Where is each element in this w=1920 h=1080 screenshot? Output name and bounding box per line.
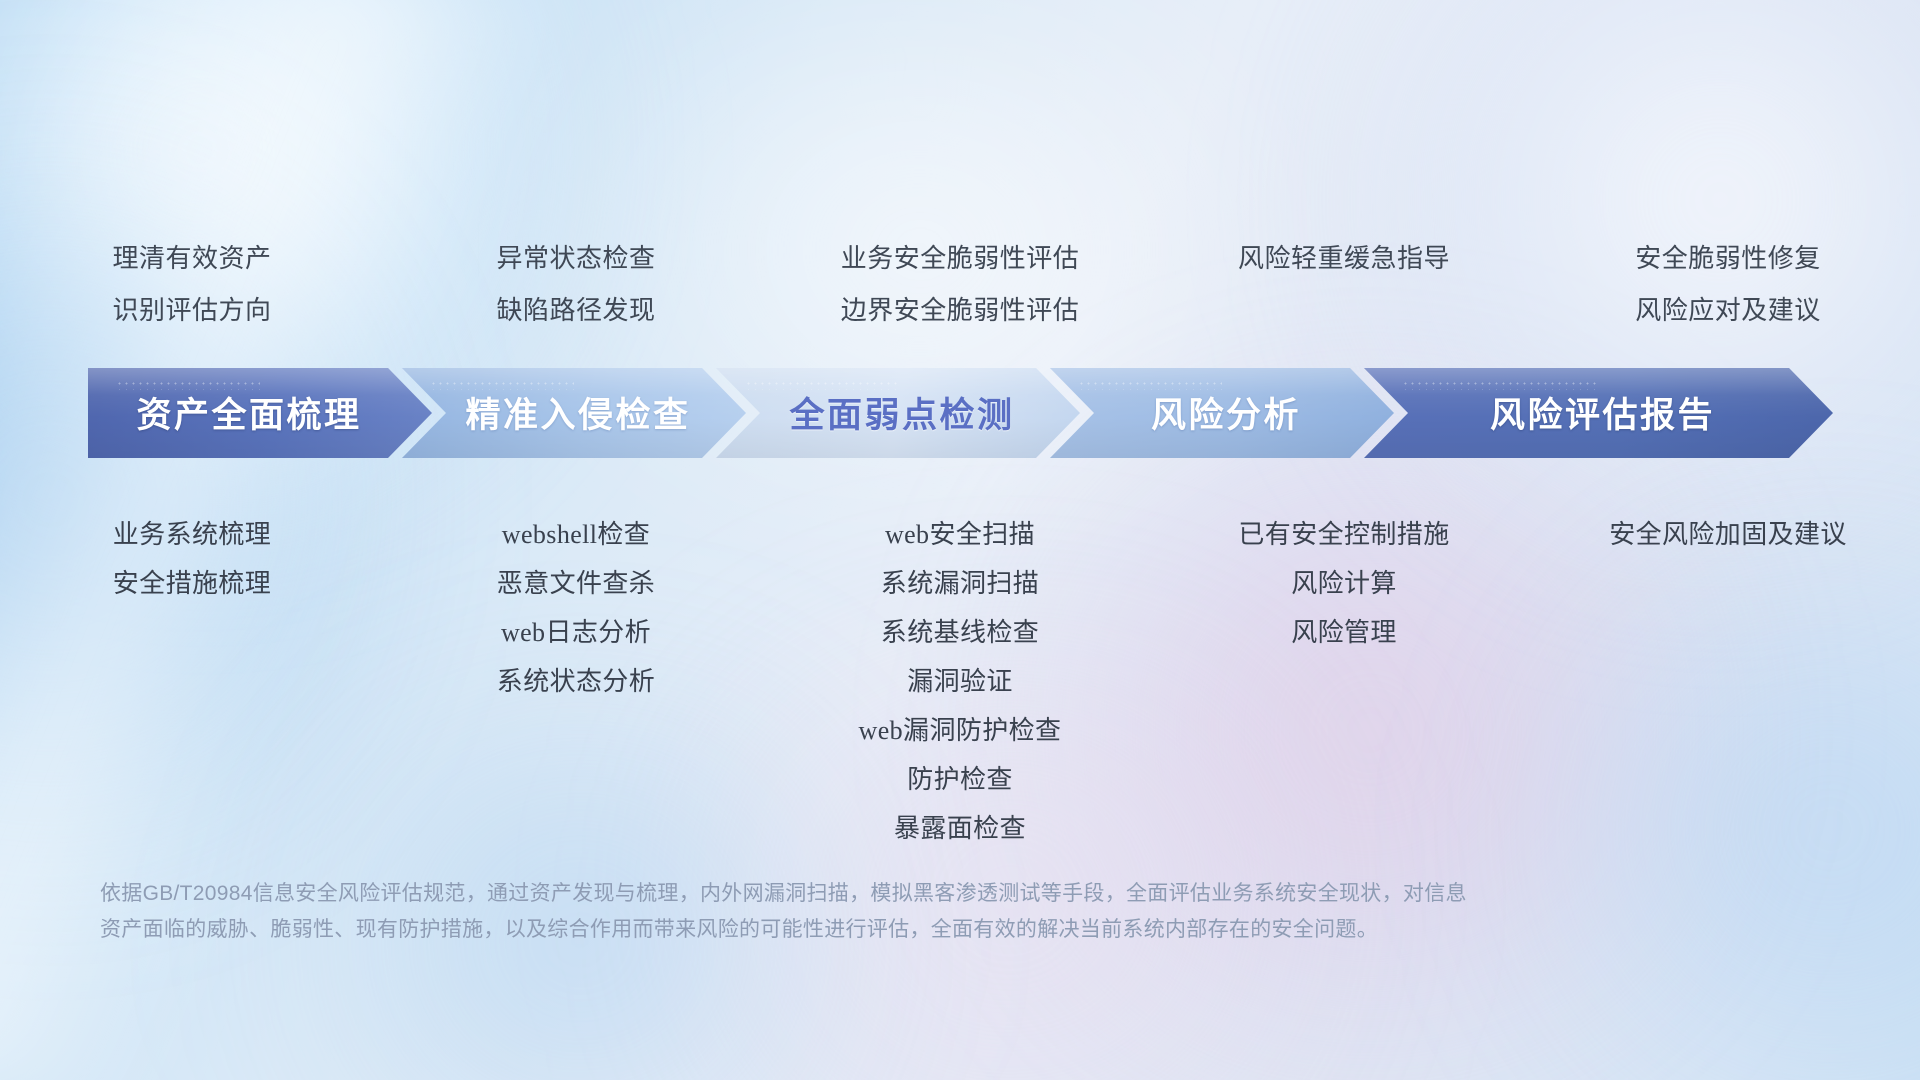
bottom-item: 系统基线检查 (881, 608, 1039, 657)
bottom-items-row: 业务系统梳理 安全措施梳理 webshell检查 恶意文件查杀 web日志分析 … (0, 510, 1920, 853)
top-item: 业务安全脆弱性评估 (841, 232, 1080, 284)
stage-chevron-weakness-detection[interactable]: 全面弱点检测 (716, 368, 1080, 458)
stage-chevron-band: 资产全面梳理 精准入侵检查 全面弱点检测 风险分析 风险评估报告 (88, 368, 1833, 458)
bottom-item: 恶意文件查杀 (497, 559, 655, 608)
stage-title: 风险评估报告 (1460, 387, 1737, 438)
bottom-items-intrusion-check: webshell检查 恶意文件查杀 web日志分析 系统状态分析 (384, 510, 768, 853)
stage-chevron-asset-inventory[interactable]: 资产全面梳理 (88, 368, 432, 458)
bottom-items-risk-analysis: 已有安全控制措施 风险计算 风险管理 (1152, 510, 1536, 853)
bottom-item: web安全扫描 (885, 510, 1035, 559)
top-items-row: 理清有效资产 识别评估方向 异常状态检查 缺陷路径发现 业务安全脆弱性评估 边界… (0, 232, 1920, 336)
top-item: 识别评估方向 (112, 284, 271, 336)
top-items-risk-analysis: 风险轻重缓急指导 (1152, 232, 1536, 336)
bottom-item: 风险计算 (1291, 559, 1397, 608)
stage-chevron-risk-report[interactable]: 风险评估报告 (1364, 368, 1833, 458)
bottom-item: 系统漏洞扫描 (881, 559, 1039, 608)
top-items-asset-inventory: 理清有效资产 识别评估方向 (0, 232, 384, 336)
description-note: 依据GB/T20984信息安全风险评估规范，通过资产发现与梳理，内外网漏洞扫描，… (100, 876, 1660, 948)
bottom-item: 业务系统梳理 (113, 510, 271, 559)
top-items-risk-report: 安全脆弱性修复 风险应对及建议 (1536, 232, 1920, 336)
top-items-intrusion-check: 异常状态检查 缺陷路径发现 (384, 232, 768, 336)
top-item: 理清有效资产 (112, 232, 271, 284)
top-item: 风险应对及建议 (1635, 284, 1821, 336)
bottom-item: 暴露面检查 (894, 804, 1026, 853)
bottom-item: 风险管理 (1291, 608, 1397, 657)
bottom-item: 防护检查 (907, 755, 1013, 804)
stage-title: 风险分析 (1121, 387, 1323, 438)
stage-title: 精准入侵检查 (435, 387, 712, 438)
note-line-2: 资产面临的威胁、脆弱性、现有防护措施，以及综合作用而带来风险的可能性进行评估，全… (100, 912, 1660, 948)
stage-title: 全面弱点检测 (759, 387, 1036, 438)
bottom-items-weakness-detection: web安全扫描 系统漏洞扫描 系统基线检查 漏洞验证 web漏洞防护检查 防护检… (768, 510, 1152, 853)
bottom-item: 系统状态分析 (497, 657, 655, 706)
bottom-item: web日志分析 (501, 608, 651, 657)
process-diagram: 理清有效资产 识别评估方向 异常状态检查 缺陷路径发现 业务安全脆弱性评估 边界… (0, 0, 1920, 1080)
bottom-items-risk-report: 安全风险加固及建议 (1536, 510, 1920, 853)
bottom-item: 安全风险加固及建议 (1609, 510, 1847, 559)
top-item: 边界安全脆弱性评估 (841, 284, 1080, 336)
stage-title: 资产全面梳理 (136, 387, 383, 438)
bottom-item: 已有安全控制措施 (1238, 510, 1449, 559)
bottom-item: 漏洞验证 (907, 657, 1013, 706)
top-item: 缺陷路径发现 (496, 284, 655, 336)
bottom-item: 安全措施梳理 (113, 559, 271, 608)
stage-chevron-intrusion-check[interactable]: 精准入侵检查 (402, 368, 746, 458)
top-item: 风险轻重缓急指导 (1238, 232, 1450, 284)
note-line-1: 依据GB/T20984信息安全风险评估规范，通过资产发现与梳理，内外网漏洞扫描，… (100, 876, 1660, 912)
bottom-item: webshell检查 (502, 510, 650, 559)
top-item: 安全脆弱性修复 (1635, 232, 1821, 284)
stage-chevron-risk-analysis[interactable]: 风险分析 (1050, 368, 1394, 458)
top-items-weakness-detection: 业务安全脆弱性评估 边界安全脆弱性评估 (768, 232, 1152, 336)
top-item: 异常状态检查 (496, 232, 655, 284)
bottom-items-asset-inventory: 业务系统梳理 安全措施梳理 (0, 510, 384, 853)
bottom-item: web漏洞防护检查 (859, 706, 1062, 755)
